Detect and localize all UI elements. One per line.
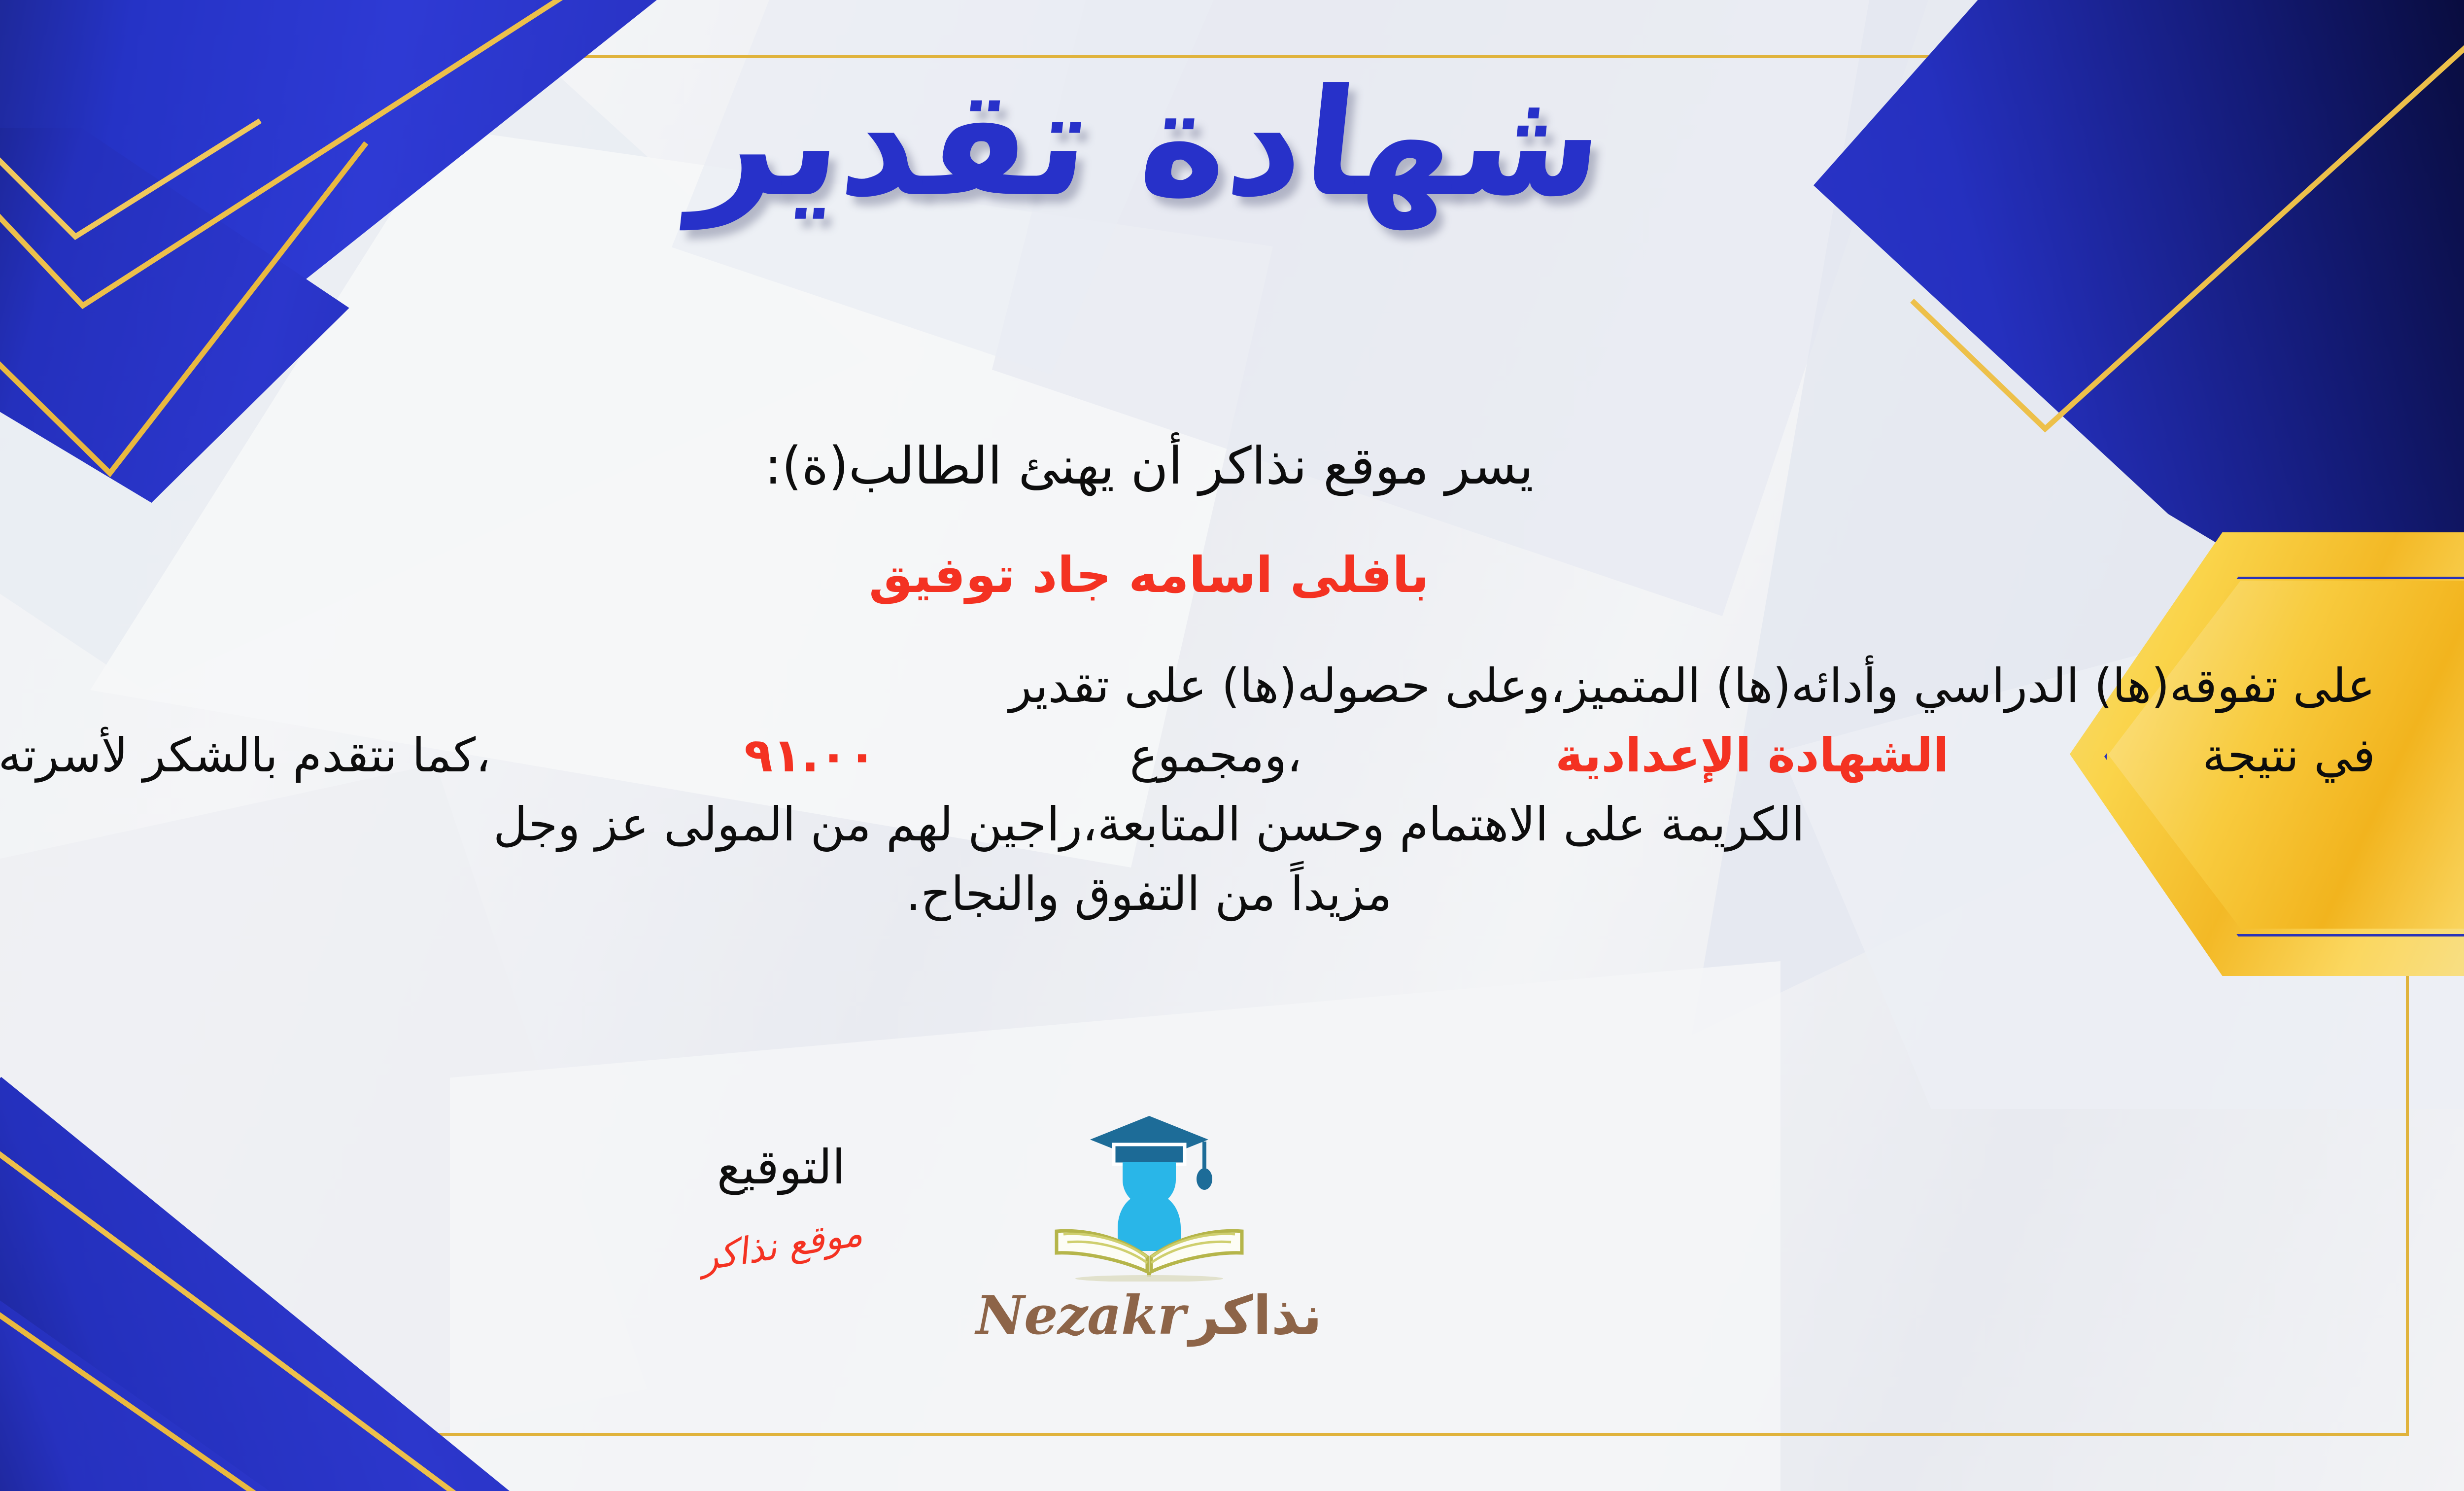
logo-wordmark-latin: Nezakr [976,1284,1185,1347]
body-line-2: في نتيجة الشهادة الإعدادية ،ومجموع ٩١.٠٠… [0,721,2375,791]
body-line-3: الكريمة على الاهتمام وحسن المتابعة،راجين… [0,790,2375,860]
body-line-4-text: مزيداً من التفوق والنجاح. [906,860,1392,929]
total-score-value: ٩١.٠٠ [744,721,876,791]
grade-value: جيد [0,652,2,721]
certificate-content: شهادة تقدير يسر موقع نذاكر أن يهنئ الطال… [0,0,2390,1491]
body-line-1-text: على تفوقه(ها) الدراسي وأدائه(ها) المتميز… [1009,652,2375,721]
body-line-2-suffix: ،كما نتقدم بالشكر لأسرته(ها) [0,721,491,791]
exam-name-value: الشهادة الإعدادية [1555,721,1949,791]
body-line-2-total-label: ،ومجموع [1129,721,1301,791]
student-name: بافلى اسامه جاد توفيق [0,546,2390,604]
logo-mark [1031,1109,1267,1282]
logo-wordmark-arabic: نذاكر [1189,1285,1322,1347]
brand-logo: نذاكر Nezakr [0,1109,2390,1347]
graduate-book-icon [1031,1109,1267,1282]
body-line-4: مزيداً من التفوق والنجاح. [0,860,2375,929]
body-line-2-prefix: في نتيجة [2202,721,2375,791]
body-line-3-text: الكريمة على الاهتمام وحسن المتابعة،راجين… [493,790,1805,860]
logo-wordmark: نذاكر Nezakr [976,1284,1322,1347]
certificate-body: على تفوقه(ها) الدراسي وأدائه(ها) المتميز… [0,652,2375,929]
greeting-line: يسر موقع نذاكر أن يهنئ الطالب(ة): [0,434,2390,498]
certificate-title: شهادة تقدير [0,58,2399,228]
body-line-1: على تفوقه(ها) الدراسي وأدائه(ها) المتميز… [0,652,2375,721]
certificate-canvas: شهادة تقدير يسر موقع نذاكر أن يهنئ الطال… [0,0,2464,1491]
student-body-icon [1118,1193,1181,1251]
